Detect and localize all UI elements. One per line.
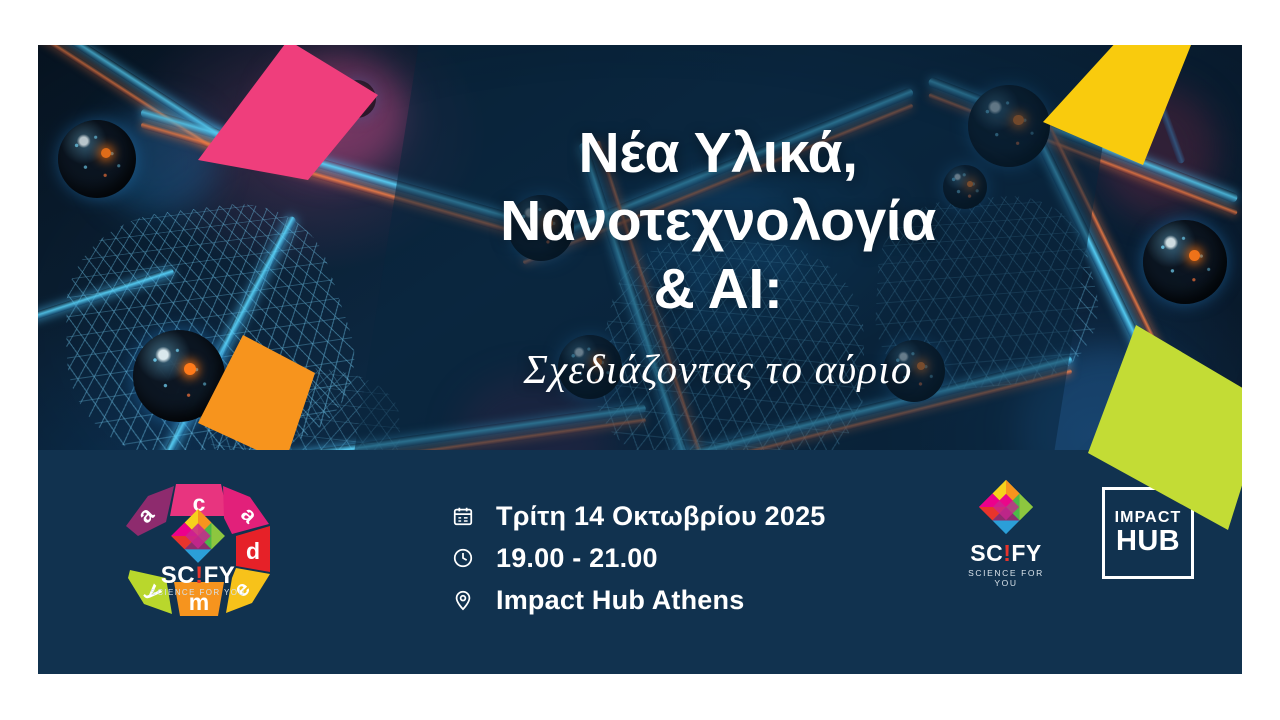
detail-row-time: 19.00 - 21.00 [448, 537, 826, 579]
scify-tagline: SCIENCE FOR YOU [962, 568, 1050, 588]
detail-row-location: Impact Hub Athens [448, 579, 826, 621]
pink-quad [188, 45, 378, 180]
svg-text:SC!FY: SC!FY [161, 562, 236, 589]
headline-block: Νέα Υλικά, Νανοτεχνολογία & AI: Σχεδιάζο… [368, 120, 1068, 393]
svg-text:SCIENCE FOR YOU: SCIENCE FOR YOU [150, 588, 245, 597]
scify-logo: SC!FY SCIENCE FOR YOU [962, 478, 1050, 588]
headline-line-1: Νέα Υλικά, [368, 120, 1068, 188]
orange-quad [193, 335, 323, 465]
svg-text:d: d [246, 538, 260, 564]
event-details: Τρίτη 14 Οκτωβρίου 2025 19.00 - 21.00 [448, 495, 826, 621]
detail-row-date: Τρίτη 14 Οκτωβρίου 2025 [448, 495, 826, 537]
scify-word-after: FY [1011, 540, 1041, 566]
scify-wordmark: SC!FY [962, 542, 1050, 565]
location-pin-icon [448, 585, 478, 615]
headline-line-3: & AI: [368, 256, 1068, 324]
scify-word-before: SC [970, 540, 1003, 566]
detail-date-text: Τρίτη 14 Οκτωβρίου 2025 [496, 501, 826, 532]
scify-diamond-icon [171, 509, 225, 563]
calendar-icon [448, 501, 478, 531]
subtitle: Σχεδιάζοντας το αύριο [368, 345, 1068, 393]
page-title: Νέα Υλικά, Νανοτεχνολογία & AI: [368, 120, 1068, 323]
event-banner: Νέα Υλικά, Νανοτεχνολογία & AI: Σχεδιάζο… [38, 45, 1242, 674]
detail-location-text: Impact Hub Athens [496, 585, 744, 616]
clock-icon [448, 543, 478, 573]
scify-academy-logo: a c a d e m [118, 470, 278, 630]
green-quad [1078, 325, 1242, 535]
info-band: a c a d e m [38, 450, 1242, 674]
scify-diamond-icon [977, 478, 1035, 536]
detail-time-text: 19.00 - 21.00 [496, 543, 658, 574]
headline-line-2: Νανοτεχνολογία [368, 188, 1068, 256]
